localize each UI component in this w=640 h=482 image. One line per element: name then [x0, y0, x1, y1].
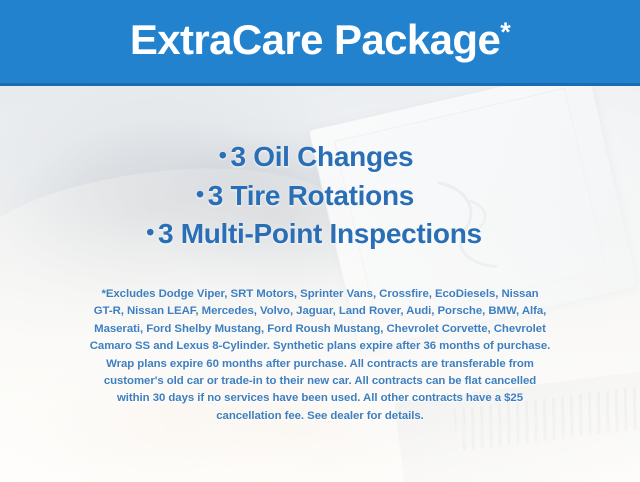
disclaimer-line: customer's old car or trade-in to their …	[18, 373, 622, 390]
list-item-label: 3 Tire Rotations	[208, 180, 414, 211]
disclaimer-line: Camaro SS and Lexus 8-Cylinder. Syntheti…	[18, 338, 622, 355]
bullet-dot-icon: •	[196, 181, 204, 207]
disclaimer-text: *Excludes Dodge Viper, SRT Motors, Sprin…	[18, 286, 622, 425]
disclaimer-line: Maserati, Ford Shelby Mustang, Ford Rous…	[18, 321, 622, 338]
page-title-text: ExtraCare Package	[130, 16, 500, 63]
disclaimer-line: *Excludes Dodge Viper, SRT Motors, Sprin…	[18, 286, 622, 303]
list-item: •3 Multi-Point Inspections	[0, 215, 640, 254]
disclaimer-line: within 30 days if no services have been …	[18, 390, 622, 407]
extracare-package-poster: ExtraCare Package* •3 Oil Changes •3 Tir…	[0, 0, 640, 482]
header-banner: ExtraCare Package*	[0, 0, 640, 86]
disclaimer-line: cancellation fee. See dealer for details…	[18, 408, 622, 425]
benefits-list: •3 Oil Changes •3 Tire Rotations •3 Mult…	[0, 138, 640, 254]
bullet-dot-icon: •	[146, 219, 154, 245]
disclaimer-line: GT-R, Nissan LEAF, Mercedes, Volvo, Jagu…	[18, 303, 622, 320]
page-title-asterisk: *	[500, 17, 510, 47]
list-item-label: 3 Oil Changes	[230, 141, 413, 172]
disclaimer-line: Wrap plans expire 60 months after purcha…	[18, 356, 622, 373]
list-item-label: 3 Multi-Point Inspections	[158, 218, 482, 249]
list-item: •3 Oil Changes	[0, 138, 640, 177]
bullet-dot-icon: •	[219, 142, 227, 168]
page-title: ExtraCare Package*	[130, 19, 510, 61]
list-item: •3 Tire Rotations	[0, 177, 640, 216]
